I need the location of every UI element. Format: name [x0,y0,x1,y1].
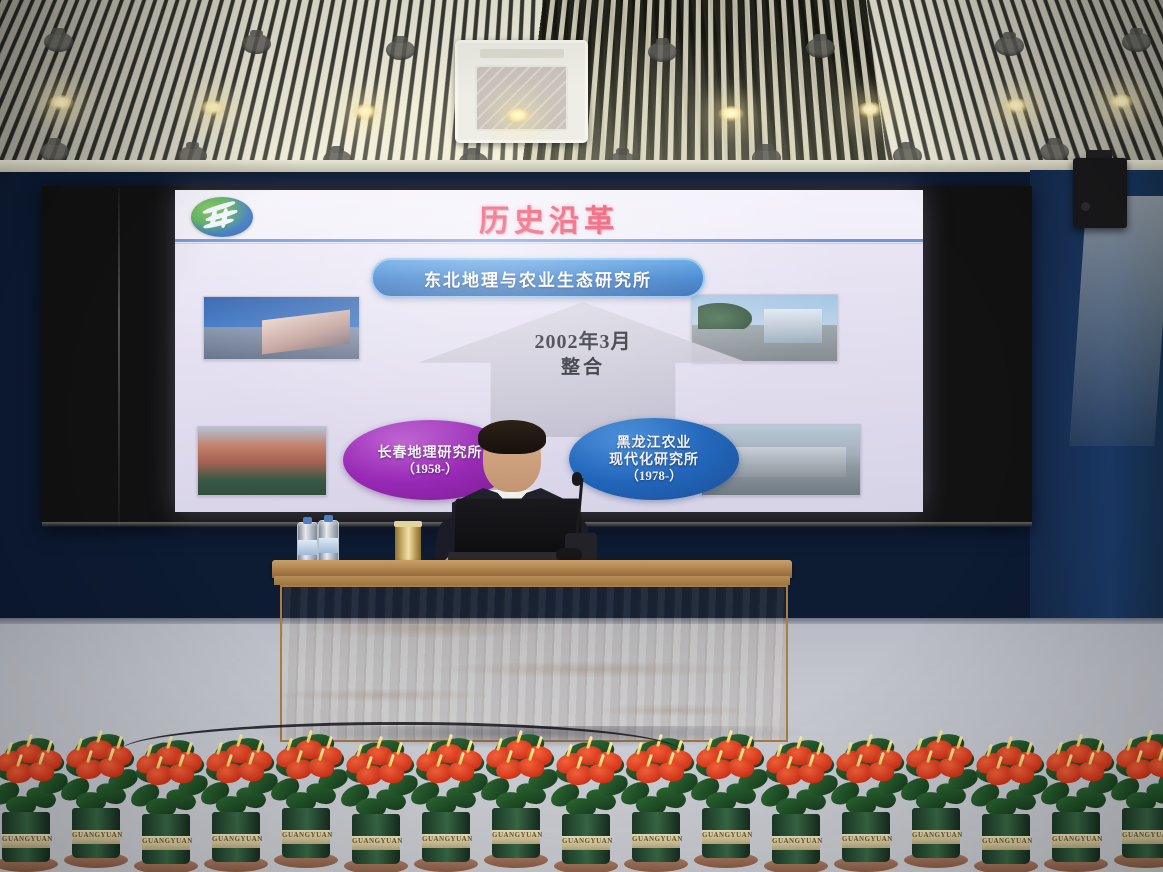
pot-label-band: GUANGYUAN [352,836,400,850]
pot-label-band: GUANGYUAN [912,830,960,844]
ceiling-downlight [857,102,883,118]
pot-label-text: GUANGYUAN [562,837,610,845]
slide-title-rule [175,239,923,242]
ceiling-downlight [352,104,378,120]
pot-label-band: GUANGYUAN [1052,834,1100,848]
potted-anthurium: GUANGYUAN [1036,702,1116,872]
pot-label-band: GUANGYUAN [282,830,330,844]
heilongjiang-institute-name-line1: 黑龙江农业 [617,434,692,451]
pot-label-text: GUANGYUAN [492,831,540,839]
pot-label-band: GUANGYUAN [212,834,260,848]
ceiling-speaker-disc [648,42,677,62]
potted-anthurium: GUANGYUAN [56,698,136,868]
presenter-hair [478,420,546,454]
ceiling-speaker-disc [242,34,271,54]
air-conditioner-unit [455,40,588,143]
merge-date: 2002年3月 [418,330,748,356]
pot-label-text: GUANGYUAN [1052,835,1100,843]
pot-label-band: GUANGYUAN [1122,830,1163,844]
pot-label-band: GUANGYUAN [632,834,680,848]
corner-wall-light [1069,196,1163,446]
institute-name-pill: 东北地理与农业生态研究所 [371,258,705,298]
potted-anthurium: GUANGYUAN [756,704,836,872]
ac-vent [480,49,564,58]
ceiling-downlight [1108,94,1134,110]
potted-anthurium: GUANGYUAN [896,698,976,868]
slide-title: 历史沿革 [175,196,923,240]
pot-label-text: GUANGYUAN [912,831,960,839]
pot-label-band: GUANGYUAN [2,834,50,848]
pot-label-band: GUANGYUAN [562,836,610,850]
ceiling-speaker-disc [806,38,835,58]
predecessor-oval-heilongjiang: 黑龙江农业 现代化研究所 （1978-） [569,418,739,500]
pot-label-band: GUANGYUAN [492,830,540,844]
pot-label-band: GUANGYUAN [842,834,890,848]
potted-anthurium: GUANGYUAN [826,702,906,872]
wall-speaker [1073,158,1127,228]
microphone-head [572,472,582,486]
pot-label-text: GUANGYUAN [352,837,400,845]
desk-edge-lip [274,576,790,585]
heilongjiang-institute-name-line2: 现代化研究所 [609,451,699,468]
potted-anthurium: GUANGYUAN [1106,698,1163,868]
potted-anthurium: GUANGYUAN [686,698,766,868]
ceiling-speaker-disc [386,40,415,60]
pot-label-band: GUANGYUAN [142,836,190,850]
potted-anthurium: GUANGYUAN [966,704,1046,872]
pot-label-band: GUANGYUAN [72,830,120,844]
pot-label-band: GUANGYUAN [422,834,470,848]
ceiling [0,0,1163,172]
ceiling-downlight [718,106,744,122]
ceiling-downlight [200,100,226,116]
heilongjiang-institute-years: （1978-） [626,468,682,484]
ceiling-downlight [48,95,74,111]
pot-label-text: GUANGYUAN [772,837,820,845]
pot-label-band: GUANGYUAN [772,836,820,850]
flower-row: GUANGYUANGUANGYUANGUANGYUANGUANGYUANGUAN… [0,692,1163,872]
pot-label-text: GUANGYUAN [702,831,750,839]
slide-photo-bottom-left [197,426,327,496]
pot-label-text: GUANGYUAN [72,831,120,839]
pot-label-text: GUANGYUAN [632,835,680,843]
merge-arrow-text: 2002年3月 整合 [418,330,748,380]
ceiling-speaker-disc [44,32,73,52]
pot-label-text: GUANGYUAN [212,835,260,843]
pot-label-text: GUANGYUAN [282,831,330,839]
pot-label-text: GUANGYUAN [982,837,1030,845]
slide-title-rule-thin [175,243,923,244]
pot-label-band: GUANGYUAN [702,830,750,844]
auditorium-photo: 历史沿革 2002年3月 整合 东北地理与农业生态研究所 长春地理研究所 （19… [0,0,1163,872]
ceiling-downlight [505,108,531,124]
ceiling-downlight [1003,98,1029,114]
pot-label-text: GUANGYUAN [422,835,470,843]
pot-label-text: GUANGYUAN [142,837,190,845]
merge-word: 整合 [418,356,748,380]
ceiling-speaker-disc [1122,32,1151,52]
thermos-cap [394,521,422,527]
ceiling-speaker-disc [995,36,1024,56]
screen-seam [118,188,120,526]
slide-photo-top-left [203,296,360,360]
pot-label-text: GUANGYUAN [2,835,50,843]
pot-label-band: GUANGYUAN [982,836,1030,850]
potted-anthurium: GUANGYUAN [126,704,206,872]
pot-label-text: GUANGYUAN [842,835,890,843]
pot-label-text: GUANGYUAN [1122,831,1163,839]
ceiling-speaker-disc [40,142,69,162]
ceiling-speaker-disc [1040,142,1069,162]
potted-anthurium: GUANGYUAN [616,702,696,872]
